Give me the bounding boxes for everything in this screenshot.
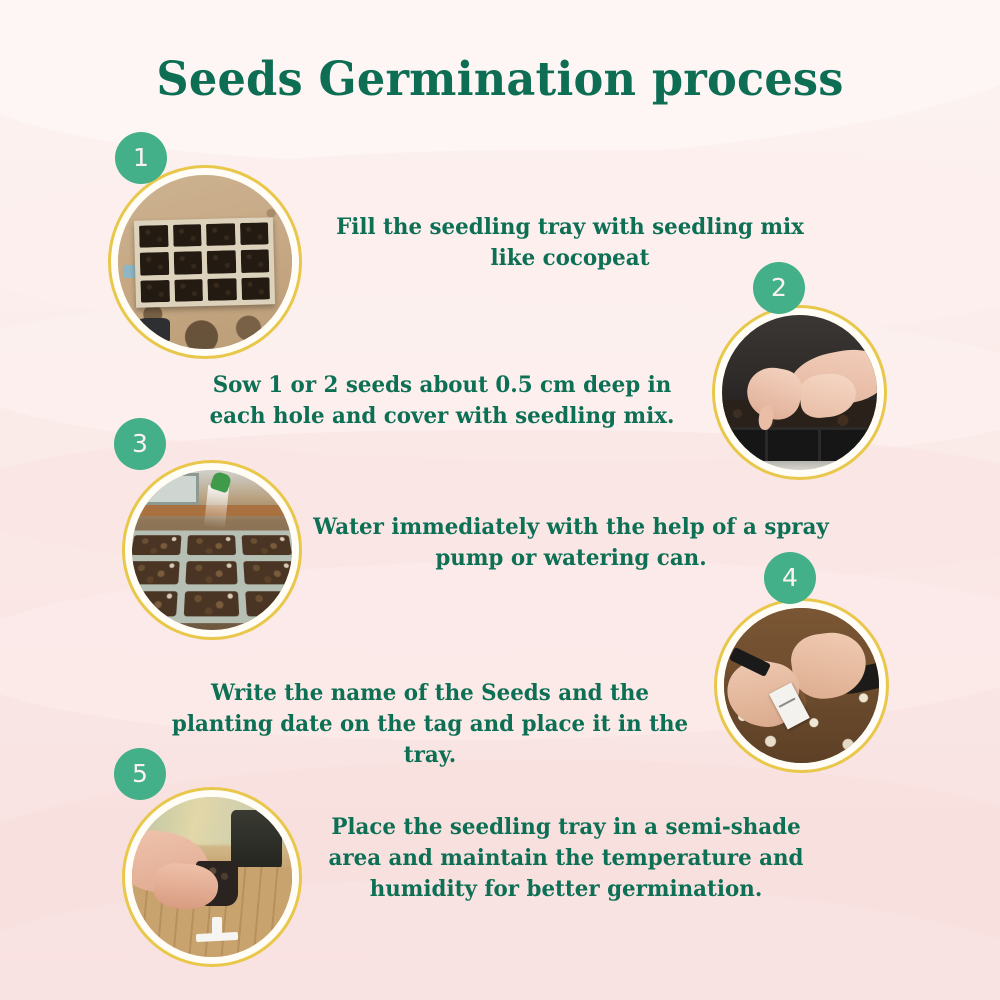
step-2-photo-frame — [712, 305, 887, 480]
tray-cell — [244, 561, 292, 584]
tray-cell — [173, 224, 202, 247]
step-2-caption: Sow 1 or 2 seeds about 0.5 cm deep in ea… — [205, 370, 680, 432]
step-4-number-badge: 4 — [764, 552, 816, 604]
seed-tray-cells — [132, 530, 292, 623]
tray-cell — [186, 561, 238, 584]
watering-seedling-tray-photo — [132, 470, 292, 630]
window-frame — [145, 473, 199, 505]
tray-cell — [246, 591, 292, 617]
step-3-number-badge: 3 — [114, 418, 166, 470]
seed-tray — [134, 217, 275, 308]
tray-cell — [141, 279, 170, 302]
writing-plant-tag-photo — [724, 608, 879, 763]
step-5-photo-frame — [122, 787, 302, 967]
infographic-page: Seeds Germination process 1 — [0, 0, 1000, 1000]
tray-cell — [174, 278, 203, 301]
tray-cell — [140, 252, 169, 275]
step-1-photo-frame — [108, 165, 302, 359]
step-5-caption: Place the seedling tray in a semi-shade … — [319, 812, 813, 905]
tray-cell — [132, 535, 182, 555]
trowel-shadow — [132, 318, 170, 342]
tray-cell — [206, 223, 235, 246]
step-3-caption: Water immediately with the help of a spr… — [312, 512, 831, 574]
tray-cell — [139, 224, 168, 247]
placing-seedling-pot-photo — [132, 797, 292, 957]
step-4-caption: Write the name of the Seeds and the plan… — [172, 678, 689, 771]
page-title: Seeds Germination process — [25, 52, 975, 107]
tray-cell — [132, 561, 180, 584]
tray-cell — [241, 276, 270, 299]
dark-plant-pot — [231, 810, 282, 874]
step-5-number-badge: 5 — [114, 748, 166, 800]
tray-cell — [242, 535, 292, 555]
hands-sowing-seeds-photo — [722, 315, 877, 470]
step-3-photo-frame — [122, 460, 302, 640]
plant-label-vertical — [212, 917, 222, 936]
step-2-number-badge: 2 — [753, 262, 805, 314]
tray-cell — [240, 222, 269, 245]
step-1-number-badge: 1 — [115, 132, 167, 184]
tray-cell — [208, 277, 237, 300]
step-4-photo-frame — [714, 598, 889, 773]
black-seed-tray — [722, 427, 877, 461]
tray-cell — [207, 250, 236, 273]
step-1-caption: Fill the seedling tray with seedling mix… — [329, 212, 812, 274]
tray-cell — [241, 249, 270, 272]
tray-cell — [132, 591, 178, 617]
seedling-tray-filled-with-cocopeat-photo — [118, 175, 292, 349]
tray-cell — [174, 251, 203, 274]
tray-cell — [184, 591, 240, 617]
tray-cell — [187, 535, 236, 555]
